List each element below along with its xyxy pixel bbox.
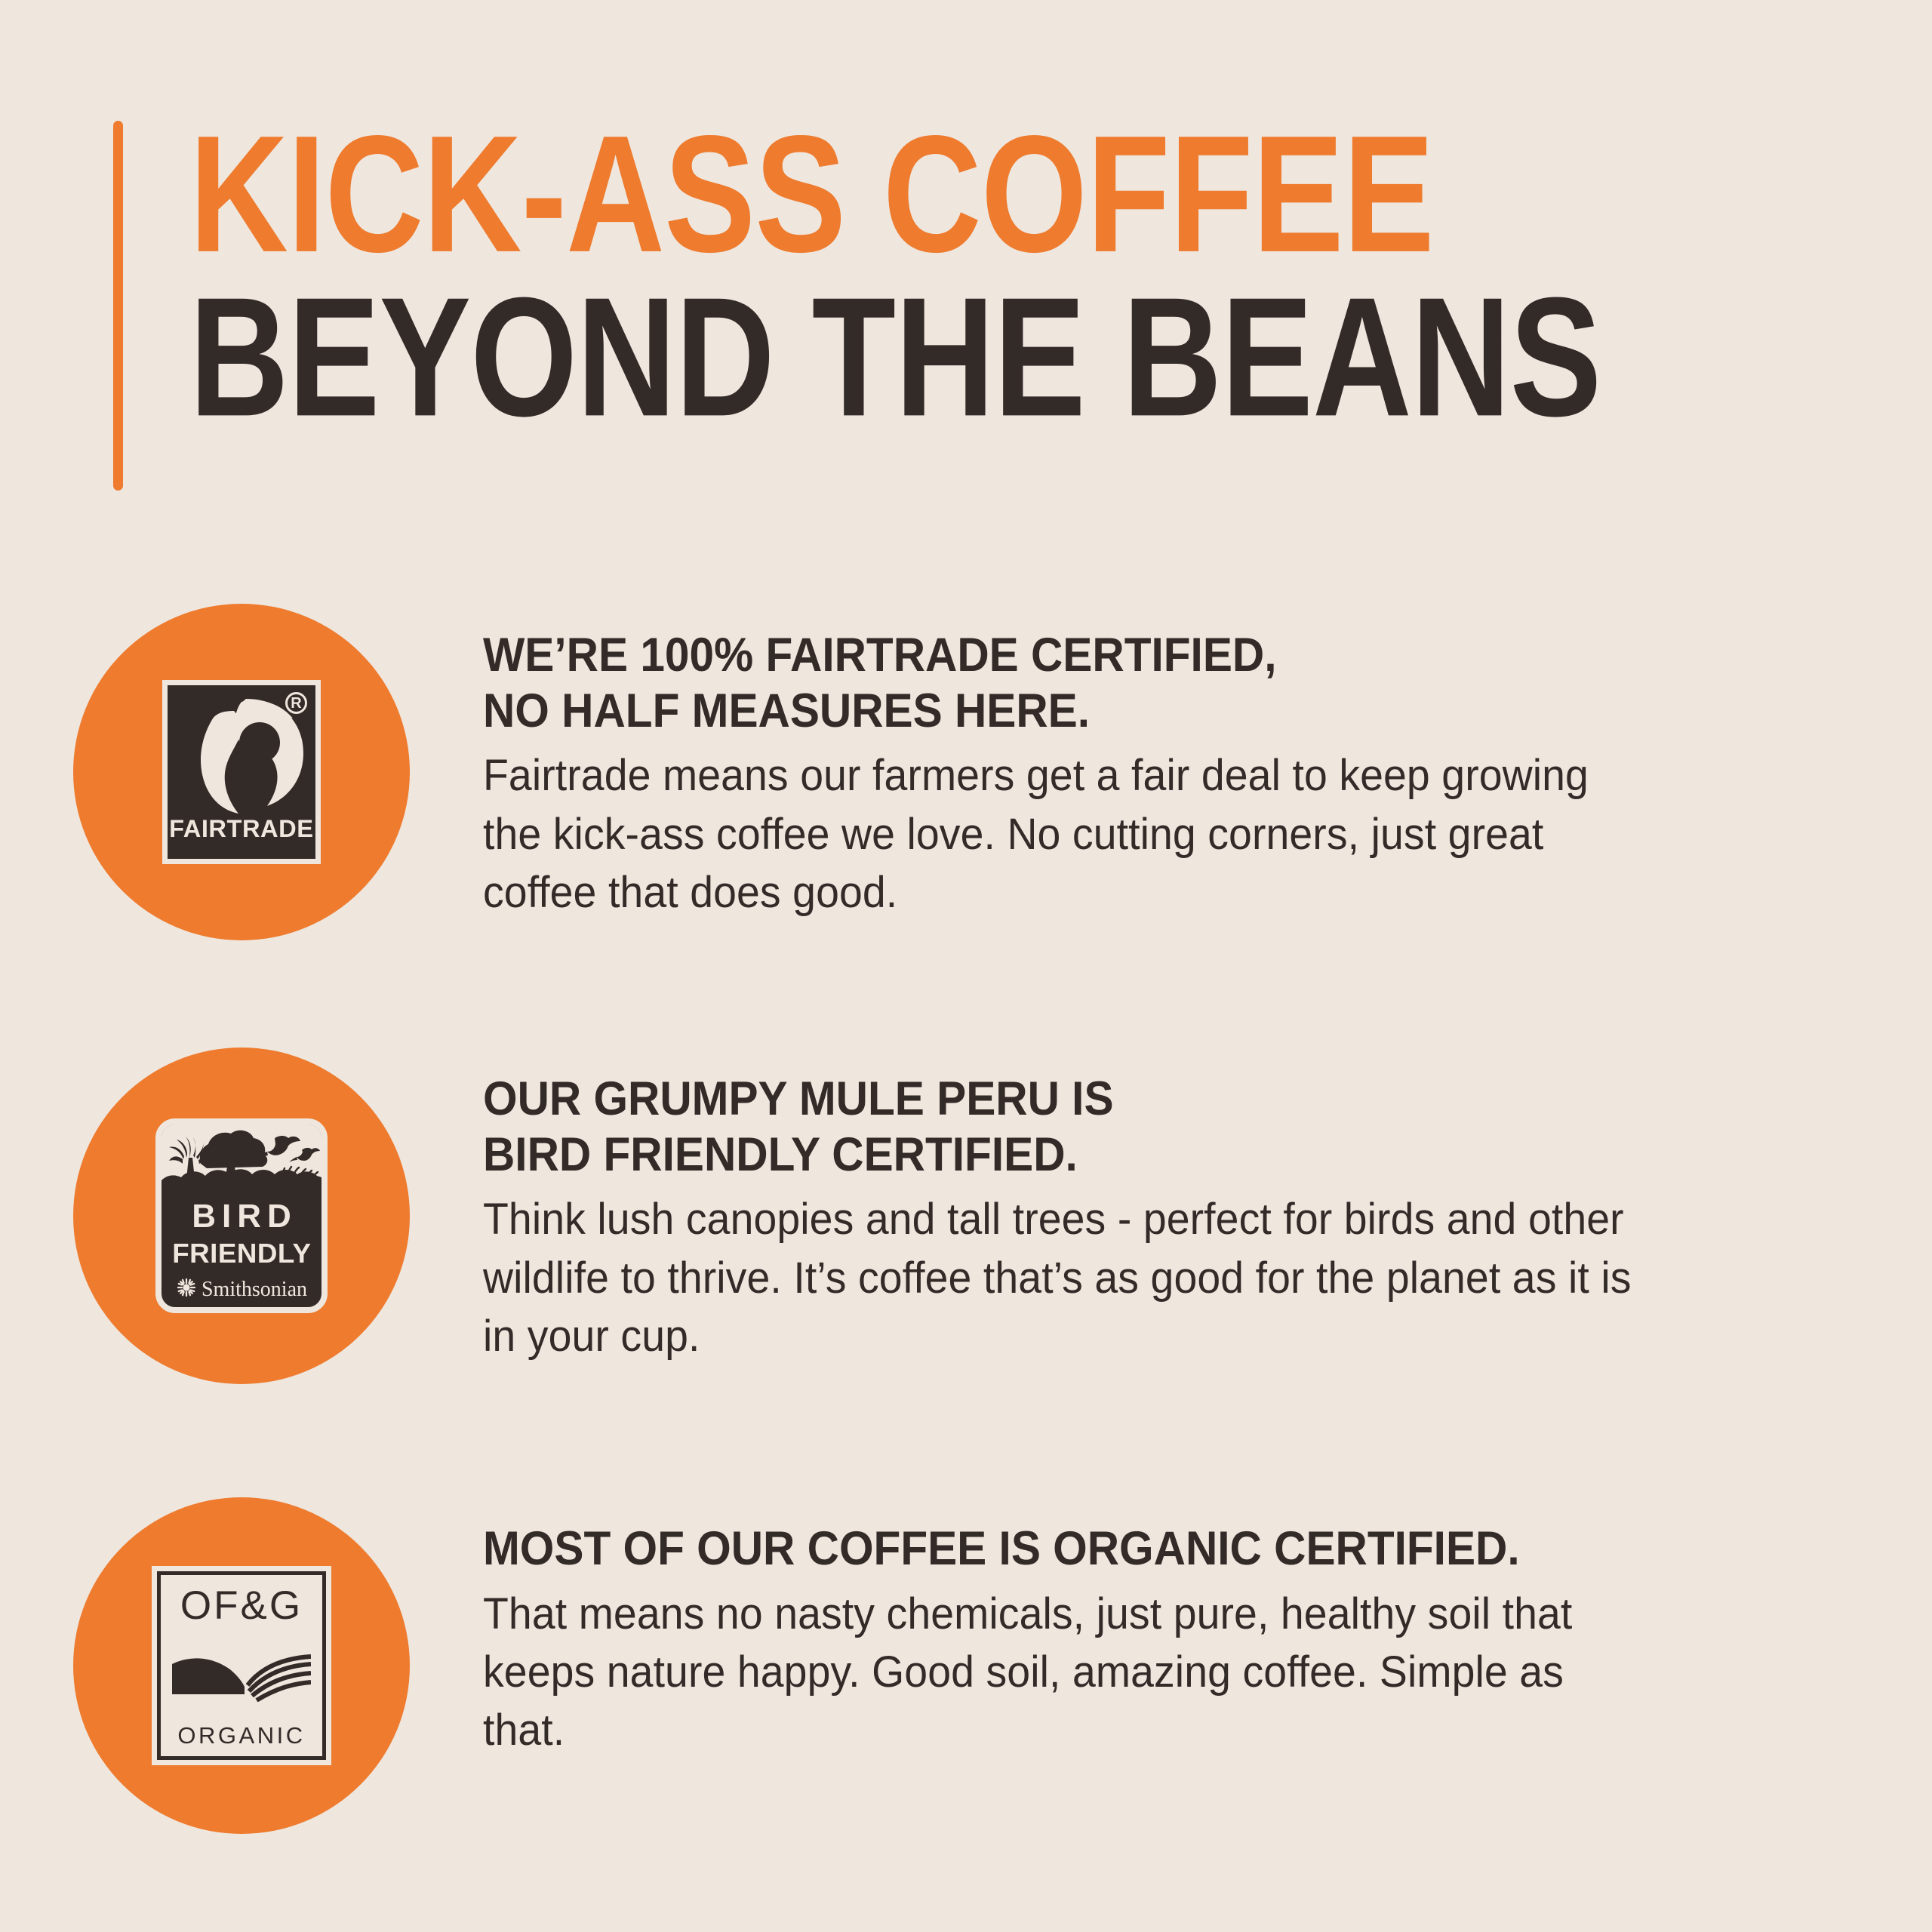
section-text-organic: MOST OF OUR COFFEE IS ORGANIC CERTIFIED.… <box>483 1497 1690 1759</box>
section-heading: OUR GRUMPY MULE PERU IS BIRD FRIENDLY CE… <box>483 1072 1606 1183</box>
bird-friendly-wordmark-bottom: FRIENDLY <box>172 1240 311 1267</box>
section-heading: WE’RE 100% FAIRTRADE CERTIFIED, NO HALF … <box>483 628 1606 739</box>
title-block: KICK-ASS COFFEE BEYOND THE BEANS <box>189 121 1831 491</box>
certification-sections: R <box>0 604 1932 1834</box>
section-text-bird-friendly: OUR GRUMPY MULE PERU IS BIRD FRIENDLY CE… <box>483 1048 1690 1365</box>
bird-friendly-wordmark-top: BIRD <box>186 1200 297 1233</box>
forest-birds-scene-icon <box>162 1124 321 1191</box>
section-body: Fairtrade means our farmers get a fair d… <box>483 746 1636 921</box>
page-title-secondary: BEYOND THE BEANS <box>189 285 1601 430</box>
badge-wrap-fairtrade: R <box>0 604 483 940</box>
fairtrade-logo: R <box>162 680 321 864</box>
ofg-wordmark-bottom: ORGANIC <box>177 1724 305 1747</box>
page-title-primary: KICK-ASS COFFEE <box>189 122 1593 266</box>
ofg-wordmark-top: OF&G <box>180 1586 303 1626</box>
badge-wrap-organic: OF&G <box>0 1497 483 1834</box>
ofg-organic-logo: OF&G <box>157 1571 326 1760</box>
badge-circle-fairtrade: R <box>73 604 410 940</box>
fairtrade-figure-icon <box>168 685 315 818</box>
fairtrade-wordmark: FAIRTRADE <box>169 817 313 841</box>
accent-bar <box>113 121 123 491</box>
badge-circle-organic: OF&G <box>73 1497 410 1834</box>
section-body: Think lush canopies and tall trees - per… <box>483 1190 1636 1364</box>
badge-wrap-bird-friendly: BIRD FRIENDLY <box>0 1048 483 1384</box>
infographic-poster: KICK-ASS COFFEE BEYOND THE BEANS R <box>0 0 1932 1932</box>
bird-friendly-logo: BIRD FRIENDLY <box>155 1118 328 1313</box>
smithsonian-lockup: Smithsonian <box>176 1277 307 1302</box>
certification-section-fairtrade: R <box>0 604 1932 940</box>
smithsonian-wordmark: Smithsonian <box>202 1279 307 1300</box>
section-body: That means no nasty chemicals, just pure… <box>483 1585 1636 1759</box>
field-furrows-icon <box>172 1647 311 1702</box>
section-heading: MOST OF OUR COFFEE IS ORGANIC CERTIFIED. <box>483 1521 1606 1577</box>
sunburst-icon <box>176 1277 197 1302</box>
section-text-fairtrade: WE’RE 100% FAIRTRADE CERTIFIED, NO HALF … <box>483 604 1690 921</box>
poster-header: KICK-ASS COFFEE BEYOND THE BEANS <box>113 121 1819 491</box>
certification-section-organic: OF&G <box>0 1497 1932 1834</box>
badge-circle-bird-friendly: BIRD FRIENDLY <box>73 1048 410 1384</box>
certification-section-bird-friendly: BIRD FRIENDLY <box>0 1048 1932 1384</box>
